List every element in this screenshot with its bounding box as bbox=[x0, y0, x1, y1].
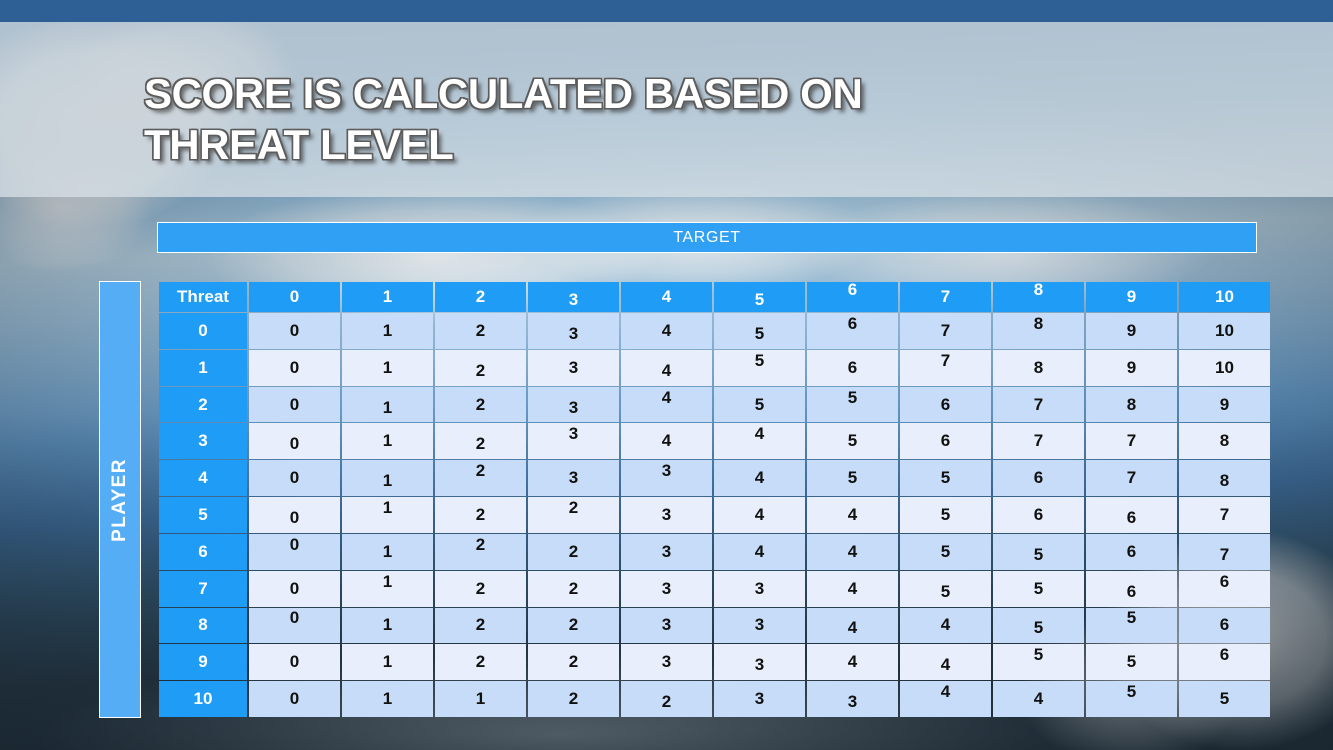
matrix-cell: 0 bbox=[249, 423, 340, 459]
matrix-cell: 9 bbox=[1179, 387, 1270, 423]
matrix-cell: 1 bbox=[342, 423, 433, 459]
matrix-cell: 0 bbox=[249, 681, 340, 717]
matrix-cell: 6 bbox=[1086, 534, 1177, 570]
matrix-row: 701223345566 bbox=[159, 571, 1270, 607]
matrix-cell: 1 bbox=[342, 608, 433, 644]
matrix-cell: 3 bbox=[621, 460, 712, 496]
matrix-cell: 3 bbox=[528, 387, 619, 423]
matrix-cell: 5 bbox=[900, 460, 991, 496]
matrix-row-header: 3 bbox=[159, 423, 247, 459]
matrix-row-header: 5 bbox=[159, 497, 247, 533]
target-axis-banner: TARGET bbox=[157, 222, 1257, 253]
matrix-cell: 4 bbox=[621, 423, 712, 459]
matrix-cell: 1 bbox=[342, 644, 433, 680]
matrix-cell: 3 bbox=[528, 313, 619, 349]
matrix-cell: 7 bbox=[1086, 460, 1177, 496]
matrix-cell: 3 bbox=[621, 534, 712, 570]
matrix-cell: 3 bbox=[621, 497, 712, 533]
matrix-cell: 2 bbox=[528, 534, 619, 570]
page-title: Score is calculated based on threat leve… bbox=[144, 68, 1144, 170]
matrix-cell: 6 bbox=[807, 350, 898, 386]
matrix-row-header: 10 bbox=[159, 681, 247, 717]
matrix-cell: 6 bbox=[993, 497, 1084, 533]
matrix-cell: 1 bbox=[342, 571, 433, 607]
matrix-cell: 1 bbox=[342, 387, 433, 423]
target-axis-label: TARGET bbox=[673, 229, 740, 247]
matrix-cell: 2 bbox=[435, 387, 526, 423]
matrix-cell: 5 bbox=[807, 423, 898, 459]
matrix-cell: 4 bbox=[621, 387, 712, 423]
matrix-cell: 0 bbox=[249, 387, 340, 423]
matrix-column-header: 9 bbox=[1086, 282, 1177, 312]
matrix-cell: 3 bbox=[714, 608, 805, 644]
matrix-cell: 5 bbox=[1086, 608, 1177, 644]
matrix-cell: 3 bbox=[528, 460, 619, 496]
matrix-cell: 2 bbox=[435, 423, 526, 459]
matrix-cell: 5 bbox=[900, 534, 991, 570]
matrix-cell: 5 bbox=[900, 571, 991, 607]
matrix-cell: 5 bbox=[993, 571, 1084, 607]
matrix-cell: 9 bbox=[1086, 313, 1177, 349]
score-matrix-container: Threat012345678910 001234567891010123456… bbox=[157, 281, 1257, 718]
matrix-cell: 7 bbox=[900, 350, 991, 386]
matrix-row-header: 9 bbox=[159, 644, 247, 680]
matrix-cell: 1 bbox=[342, 460, 433, 496]
matrix-row: 901223344556 bbox=[159, 644, 1270, 680]
slide-canvas: Score is calculated based on threat leve… bbox=[0, 0, 1333, 750]
matrix-row-header: 7 bbox=[159, 571, 247, 607]
matrix-cell: 5 bbox=[714, 387, 805, 423]
matrix-cell: 2 bbox=[528, 571, 619, 607]
matrix-cell: 3 bbox=[528, 350, 619, 386]
matrix-cell: 3 bbox=[528, 423, 619, 459]
matrix-cell: 1 bbox=[342, 313, 433, 349]
matrix-cell: 1 bbox=[435, 681, 526, 717]
matrix-cell: 8 bbox=[993, 350, 1084, 386]
matrix-cell: 4 bbox=[807, 534, 898, 570]
matrix-row: 801223344556 bbox=[159, 608, 1270, 644]
matrix-cell: 6 bbox=[1179, 644, 1270, 680]
matrix-cell: 0 bbox=[249, 608, 340, 644]
matrix-row: 1001122334455 bbox=[159, 681, 1270, 717]
matrix-column-header: 2 bbox=[435, 282, 526, 312]
matrix-row-header: 6 bbox=[159, 534, 247, 570]
matrix-cell: 3 bbox=[621, 608, 712, 644]
matrix-cell: 3 bbox=[807, 681, 898, 717]
title-panel: Score is calculated based on threat leve… bbox=[0, 22, 1333, 197]
matrix-cell: 0 bbox=[249, 350, 340, 386]
matrix-column-header: 7 bbox=[900, 282, 991, 312]
matrix-cell: 4 bbox=[900, 644, 991, 680]
matrix-cell: 6 bbox=[993, 460, 1084, 496]
matrix-cell: 2 bbox=[435, 608, 526, 644]
matrix-column-header: 5 bbox=[714, 282, 805, 312]
matrix-cell: 5 bbox=[807, 387, 898, 423]
matrix-cell: 4 bbox=[714, 534, 805, 570]
matrix-cell: 0 bbox=[249, 460, 340, 496]
matrix-cell: 2 bbox=[435, 571, 526, 607]
matrix-cell: 4 bbox=[807, 571, 898, 607]
matrix-cell: 5 bbox=[807, 460, 898, 496]
matrix-row: 501223445667 bbox=[159, 497, 1270, 533]
matrix-cell: 4 bbox=[621, 350, 712, 386]
matrix-cell: 7 bbox=[1179, 534, 1270, 570]
matrix-cell: 7 bbox=[1086, 423, 1177, 459]
matrix-cell: 4 bbox=[714, 460, 805, 496]
matrix-column-header: 3 bbox=[528, 282, 619, 312]
matrix-cell: 6 bbox=[1086, 497, 1177, 533]
matrix-row: 0012345678910 bbox=[159, 313, 1270, 349]
matrix-cell: 4 bbox=[621, 313, 712, 349]
matrix-cell: 7 bbox=[900, 313, 991, 349]
matrix-cell: 4 bbox=[900, 681, 991, 717]
matrix-cell: 0 bbox=[249, 644, 340, 680]
matrix-cell: 4 bbox=[807, 644, 898, 680]
matrix-cell: 5 bbox=[1179, 681, 1270, 717]
matrix-cell: 4 bbox=[714, 497, 805, 533]
matrix-cell: 5 bbox=[900, 497, 991, 533]
matrix-cell: 8 bbox=[1179, 423, 1270, 459]
matrix-cell: 3 bbox=[621, 571, 712, 607]
matrix-cell: 2 bbox=[435, 497, 526, 533]
matrix-cell: 6 bbox=[1179, 571, 1270, 607]
matrix-cell: 4 bbox=[714, 423, 805, 459]
matrix-cell: 3 bbox=[714, 571, 805, 607]
matrix-cell: 10 bbox=[1179, 350, 1270, 386]
matrix-column-header: 8 bbox=[993, 282, 1084, 312]
matrix-cell: 2 bbox=[435, 534, 526, 570]
matrix-cell: 4 bbox=[807, 497, 898, 533]
matrix-cell: 5 bbox=[993, 534, 1084, 570]
matrix-cell: 9 bbox=[1086, 350, 1177, 386]
matrix-cell: 7 bbox=[1179, 497, 1270, 533]
matrix-cell: 5 bbox=[714, 313, 805, 349]
matrix-cell: 8 bbox=[1179, 460, 1270, 496]
player-axis-banner: PLAYER bbox=[99, 281, 141, 718]
matrix-cell: 2 bbox=[528, 644, 619, 680]
matrix-cell: 0 bbox=[249, 571, 340, 607]
matrix-cell: 2 bbox=[435, 313, 526, 349]
matrix-cell: 1 bbox=[342, 534, 433, 570]
matrix-cell: 5 bbox=[1086, 681, 1177, 717]
score-matrix-table: Threat012345678910 001234567891010123456… bbox=[157, 281, 1272, 718]
matrix-cell: 4 bbox=[807, 608, 898, 644]
top-accent-strip bbox=[0, 0, 1333, 22]
matrix-row-header: 4 bbox=[159, 460, 247, 496]
matrix-cell: 3 bbox=[621, 644, 712, 680]
matrix-cell: 5 bbox=[1086, 644, 1177, 680]
matrix-cell: 10 bbox=[1179, 313, 1270, 349]
matrix-row-header: 2 bbox=[159, 387, 247, 423]
matrix-cell: 3 bbox=[714, 681, 805, 717]
matrix-row: 301234456778 bbox=[159, 423, 1270, 459]
matrix-row-header: 8 bbox=[159, 608, 247, 644]
matrix-cell: 2 bbox=[528, 681, 619, 717]
matrix-cell: 1 bbox=[342, 681, 433, 717]
matrix-row-header: 1 bbox=[159, 350, 247, 386]
matrix-column-header: 6 bbox=[807, 282, 898, 312]
matrix-cell: 2 bbox=[528, 497, 619, 533]
matrix-row: 601223445567 bbox=[159, 534, 1270, 570]
matrix-cell: 6 bbox=[807, 313, 898, 349]
matrix-cell: 5 bbox=[714, 350, 805, 386]
matrix-cell: 0 bbox=[249, 497, 340, 533]
matrix-cell: 4 bbox=[900, 608, 991, 644]
matrix-cell: 2 bbox=[621, 681, 712, 717]
matrix-cell: 2 bbox=[528, 608, 619, 644]
player-axis-label: PLAYER bbox=[109, 458, 131, 542]
matrix-cell: 3 bbox=[714, 644, 805, 680]
matrix-cell: 0 bbox=[249, 534, 340, 570]
matrix-cell: 6 bbox=[900, 423, 991, 459]
matrix-cell: 5 bbox=[993, 644, 1084, 680]
matrix-header-row: Threat012345678910 bbox=[159, 282, 1270, 312]
matrix-column-header: 4 bbox=[621, 282, 712, 312]
matrix-cell: 1 bbox=[342, 350, 433, 386]
matrix-cell: 7 bbox=[993, 423, 1084, 459]
matrix-body: 0012345678910101234567891020123455678930… bbox=[159, 313, 1270, 717]
matrix-cell: 4 bbox=[993, 681, 1084, 717]
matrix-cell: 5 bbox=[993, 608, 1084, 644]
matrix-cell: 8 bbox=[1086, 387, 1177, 423]
matrix-row: 201234556789 bbox=[159, 387, 1270, 423]
matrix-column-header: 0 bbox=[249, 282, 340, 312]
matrix-cell: 8 bbox=[993, 313, 1084, 349]
matrix-cell: 2 bbox=[435, 644, 526, 680]
matrix-cell: 2 bbox=[435, 350, 526, 386]
matrix-corner-header: Threat bbox=[159, 282, 247, 312]
matrix-cell: 7 bbox=[993, 387, 1084, 423]
matrix-cell: 0 bbox=[249, 313, 340, 349]
matrix-column-header: 1 bbox=[342, 282, 433, 312]
matrix-row-header: 0 bbox=[159, 313, 247, 349]
matrix-row: 401233455678 bbox=[159, 460, 1270, 496]
matrix-cell: 6 bbox=[1086, 571, 1177, 607]
matrix-cell: 1 bbox=[342, 497, 433, 533]
matrix-cell: 2 bbox=[435, 460, 526, 496]
matrix-header: Threat012345678910 bbox=[159, 282, 1270, 312]
matrix-cell: 6 bbox=[900, 387, 991, 423]
matrix-row: 1012345678910 bbox=[159, 350, 1270, 386]
matrix-cell: 6 bbox=[1179, 608, 1270, 644]
matrix-column-header: 10 bbox=[1179, 282, 1270, 312]
